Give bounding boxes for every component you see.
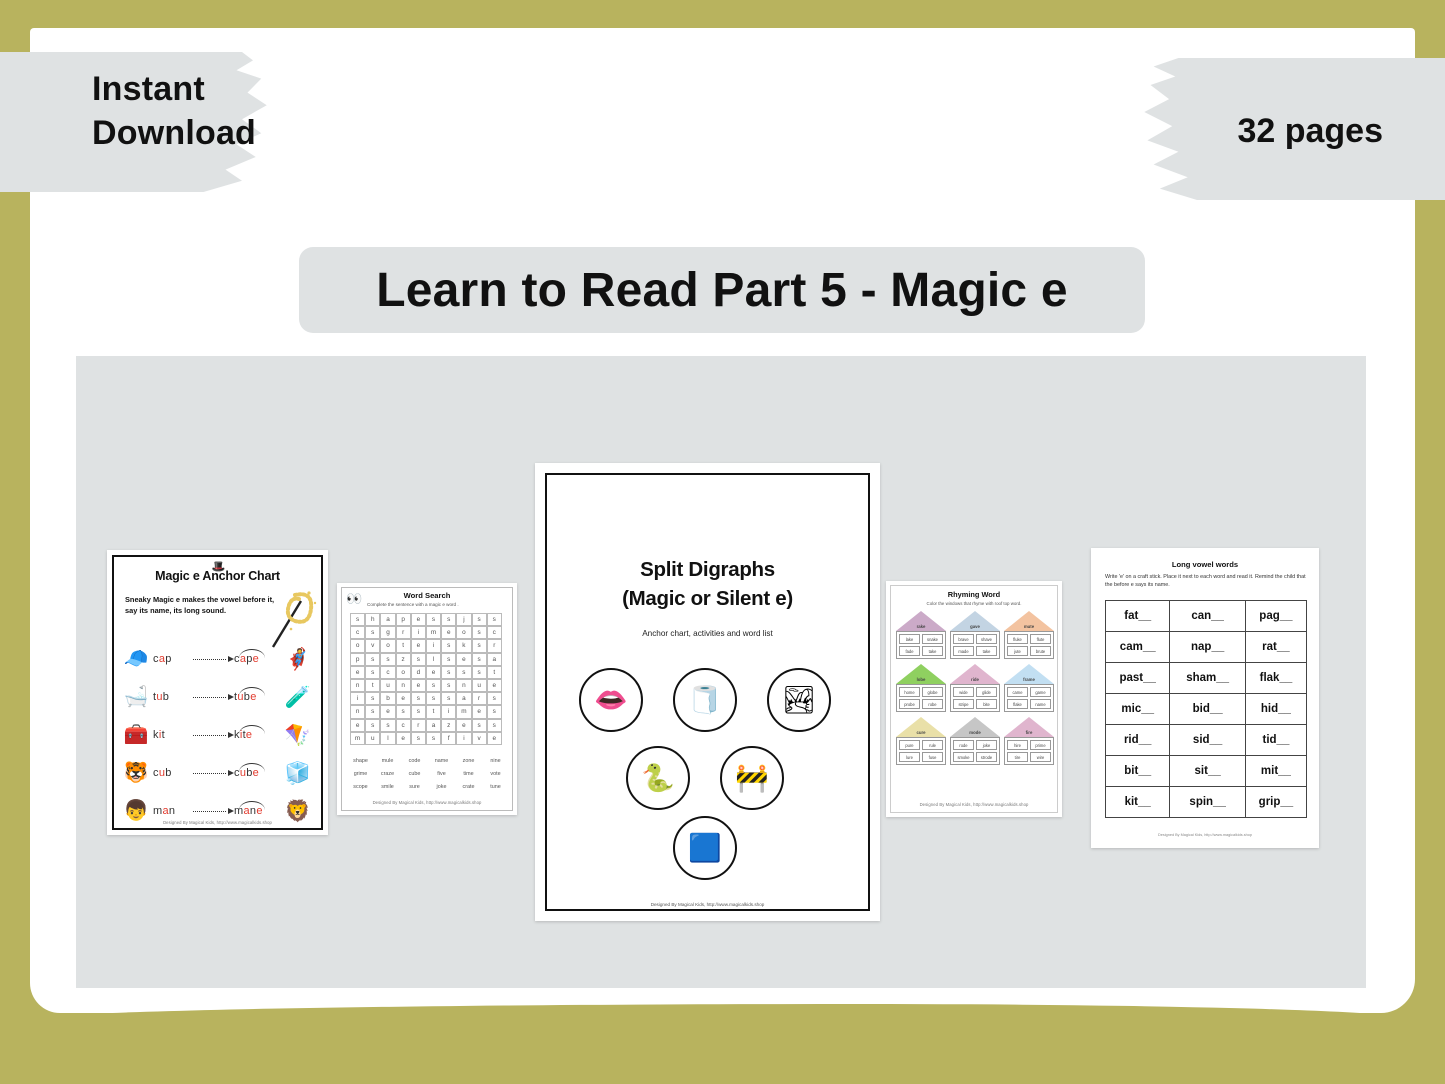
anchor-row-short-word: man <box>153 805 191 817</box>
house-roof: rake <box>896 611 946 631</box>
rhyming-house: lobehomeglobeproberobe <box>896 664 946 712</box>
word-search-cell[interactable]: s <box>487 705 502 718</box>
cover-subtitle: Anchor chart, activities and word list <box>535 629 880 638</box>
house-window[interactable]: pure <box>899 740 920 750</box>
word-search-cell[interactable]: s <box>487 692 502 705</box>
long-vowel-cell: cam__ <box>1106 632 1170 663</box>
word-search-cell[interactable]: f <box>441 732 456 745</box>
house-window[interactable]: tire <box>1007 752 1028 762</box>
table-row: cam__nap__rat__ <box>1106 632 1307 663</box>
instant-download-line-1: Instant <box>92 68 256 112</box>
product-title-banner: Learn to Read Part 5 - Magic e <box>299 247 1145 333</box>
word-search-cell[interactable]: e <box>456 719 471 732</box>
anchor-row-short-word: kit <box>153 729 191 741</box>
house-roof: cure <box>896 717 946 737</box>
anchor-chart-title: Magic e Anchor Chart <box>107 569 328 583</box>
table-row: mic__bid__hid__ <box>1106 694 1307 725</box>
house-window[interactable]: prime <box>1030 740 1051 750</box>
word-search-cell[interactable]: o <box>380 639 395 652</box>
house-window[interactable]: rule <box>922 740 943 750</box>
house-window[interactable]: fade <box>899 646 920 656</box>
word-search-cell[interactable]: s <box>365 705 380 718</box>
word-search-cell[interactable]: s <box>426 613 441 626</box>
table-row: kit__spin__grip__ <box>1106 787 1307 818</box>
word-search-cell[interactable]: s <box>441 653 456 666</box>
page-credit: Designed By Magical Kids, http://www.mag… <box>107 820 328 825</box>
anchor-row-long-icon: 🪁 <box>278 725 318 746</box>
word-search-word: nine <box>482 758 509 764</box>
word-search-cell[interactable]: s <box>441 613 456 626</box>
house-body: flukeflutejutebrute <box>1004 631 1054 659</box>
long-vowel-table: fat__can__pag__cam__nap__rat__past__sham… <box>1105 600 1307 818</box>
table-row: past__sham__flak__ <box>1106 663 1307 694</box>
house-body: camegameflakename <box>1004 684 1054 712</box>
house-roof: mute <box>1004 611 1054 631</box>
anchor-row-long-icon: 🦁 <box>278 801 318 822</box>
word-search-cell[interactable]: m <box>426 626 441 639</box>
cover-image-cone: 🚧 <box>720 746 784 810</box>
house-roof-word: frame <box>1004 677 1054 682</box>
word-search-cell[interactable]: s <box>426 732 441 745</box>
long-vowel-cell: sit__ <box>1170 756 1245 787</box>
anchor-row-short-word: tub <box>153 691 191 703</box>
word-search-cell[interactable]: s <box>411 732 426 745</box>
house-window[interactable]: home <box>899 687 920 697</box>
anchor-chart-word-rows: 🧢capcape🦸🛁tubtube🧪🧰kitkite🪁🐯cubcube🧊👦man… <box>119 640 318 830</box>
word-search-cell[interactable]: c <box>350 626 365 639</box>
house-window[interactable]: glide <box>976 687 997 697</box>
cover-image-bite: 👄 <box>579 668 643 732</box>
long-vowel-cell: hid__ <box>1245 694 1306 725</box>
preview-page-word-search[interactable]: 👀 Word Search Complete the sentence with… <box>337 583 517 815</box>
word-search-word: code <box>401 758 428 764</box>
page-credit: Designed By Magical Kids, http://www.mag… <box>535 902 880 907</box>
preview-page-cover[interactable]: Split Digraphs (Magic or Silent e) Ancho… <box>535 463 880 921</box>
word-search-cell[interactable]: l <box>426 653 441 666</box>
long-vowel-cell: mic__ <box>1106 694 1170 725</box>
page-credit: Designed By Magical Kids, http://www.mag… <box>1091 833 1319 837</box>
word-search-grid: shapessjsscsgrimeoscovoteisksrpsszslsesa… <box>350 613 502 745</box>
word-search-cell[interactable]: j <box>456 613 471 626</box>
word-search-cell[interactable]: h <box>365 613 380 626</box>
word-search-cell[interactable]: s <box>426 679 441 692</box>
word-search-cell[interactable]: e <box>411 613 426 626</box>
word-search-cell[interactable]: i <box>441 705 456 718</box>
word-search-word: cube <box>401 771 428 777</box>
page-credit: Designed By Magical Kids, http://www.mag… <box>337 800 517 805</box>
arrow-icon <box>191 730 234 740</box>
house-window[interactable]: snake <box>922 634 943 644</box>
rhyming-house: rakelakesnakefadetake <box>896 611 946 659</box>
word-search-cell[interactable]: e <box>411 639 426 652</box>
word-search-cell[interactable]: u <box>380 679 395 692</box>
house-roof-word: gave <box>950 624 1000 629</box>
cover-title-line-2: (Magic or Silent e) <box>535 584 880 613</box>
house-window[interactable]: brute <box>1030 646 1051 656</box>
house-window[interactable]: wire <box>1030 752 1051 762</box>
preview-page-rhyming-words[interactable]: Rhyming Word Color the windows that rhym… <box>886 581 1062 817</box>
anchor-row-short-icon: 🧰 <box>119 725 153 745</box>
word-search-cell[interactable]: s <box>472 653 487 666</box>
house-roof: mode <box>950 717 1000 737</box>
long-vowel-title: Long vowel words <box>1091 560 1319 569</box>
house-window[interactable]: take <box>976 646 997 656</box>
word-search-word: sure <box>401 784 428 790</box>
word-search-cell[interactable]: s <box>411 692 426 705</box>
word-search-word: mule <box>374 758 401 764</box>
word-search-cell[interactable]: s <box>380 719 395 732</box>
word-search-cell[interactable]: s <box>472 666 487 679</box>
house-roof: lobe <box>896 664 946 684</box>
house-roof-word: mode <box>950 730 1000 735</box>
anchor-row-long-icon: 🦸 <box>278 649 318 670</box>
word-search-cell[interactable]: s <box>380 653 395 666</box>
long-vowel-cell: pag__ <box>1245 601 1306 632</box>
word-search-cell[interactable]: z <box>441 719 456 732</box>
word-search-cell[interactable]: s <box>441 692 456 705</box>
arrow-icon <box>191 768 234 778</box>
word-search-cell[interactable]: a <box>456 692 471 705</box>
house-body: purerulelurefuse <box>896 737 946 765</box>
word-search-cell[interactable]: r <box>411 719 426 732</box>
house-window[interactable]: hire <box>1007 740 1028 750</box>
word-search-cell[interactable]: s <box>396 705 411 718</box>
house-roof: ride <box>950 664 1000 684</box>
word-search-word: tune <box>482 784 509 790</box>
word-search-cell[interactable]: b <box>380 692 395 705</box>
long-vowel-cell: grip__ <box>1245 787 1306 818</box>
word-search-cell[interactable]: o <box>396 666 411 679</box>
long-vowel-subtitle: Write 'e' on a craft stick. Place it nex… <box>1105 573 1307 589</box>
word-search-cell[interactable]: r <box>396 626 411 639</box>
house-window[interactable]: strode <box>976 752 997 762</box>
word-search-word: crate <box>455 784 482 790</box>
long-vowel-cell: sid__ <box>1170 725 1245 756</box>
house-window[interactable]: rode <box>953 740 974 750</box>
word-search-cell[interactable]: i <box>426 639 441 652</box>
anchor-row-long-word: cube <box>234 767 278 779</box>
house-window[interactable]: smoke <box>953 752 974 762</box>
long-vowel-cell: mit__ <box>1245 756 1306 787</box>
word-search-cell[interactable]: n <box>396 679 411 692</box>
rhyming-house: ridewideglidestripebite <box>950 664 1000 712</box>
house-window[interactable]: wide <box>953 687 974 697</box>
word-search-cell[interactable]: c <box>396 719 411 732</box>
word-search-cell[interactable]: a <box>380 613 395 626</box>
long-vowel-cell: rid__ <box>1106 725 1170 756</box>
word-search-cell[interactable]: e <box>441 626 456 639</box>
word-search-cell[interactable]: e <box>426 666 441 679</box>
word-search-cell[interactable]: s <box>472 613 487 626</box>
word-search-cell[interactable]: s <box>472 639 487 652</box>
word-search-cell[interactable]: r <box>487 639 502 652</box>
word-search-cell[interactable]: p <box>396 613 411 626</box>
long-vowel-cell: bid__ <box>1170 694 1245 725</box>
rhyming-house: muteflukeflutejutebrute <box>1004 611 1054 659</box>
word-search-cell[interactable]: e <box>396 692 411 705</box>
word-search-cell[interactable]: s <box>411 653 426 666</box>
word-search-cell[interactable]: r <box>472 692 487 705</box>
word-search-cell[interactable]: e <box>487 679 502 692</box>
word-search-cell[interactable]: s <box>441 639 456 652</box>
page-credit: Designed By Magical Kids, http://www.mag… <box>886 802 1062 807</box>
word-search-subtitle: Complete the sentence with a magic e wor… <box>367 602 509 607</box>
cover-image-tape: 🧻 <box>673 668 737 732</box>
word-search-cell[interactable]: s <box>350 613 365 626</box>
house-body: rodejokesmokestrode <box>950 737 1000 765</box>
arrow-icon <box>191 692 234 702</box>
house-window[interactable]: take <box>922 646 943 656</box>
long-vowel-cell: tid__ <box>1245 725 1306 756</box>
preview-page-anchor-chart[interactable]: 🎩 Magic e Anchor Chart Sneaky Magic e ma… <box>107 550 328 835</box>
long-vowel-cell: bit__ <box>1106 756 1170 787</box>
house-window[interactable]: probe <box>899 699 920 709</box>
word-search-cell[interactable]: c <box>380 666 395 679</box>
word-search-cell[interactable]: t <box>396 639 411 652</box>
word-search-title: Word Search <box>337 591 517 600</box>
anchor-row-short-word: cub <box>153 767 191 779</box>
anchor-row-short-word: cap <box>153 653 191 665</box>
house-window[interactable]: game <box>1030 687 1051 697</box>
word-search-cell[interactable]: m <box>350 732 365 745</box>
rhyming-house: firehireprimetirewire <box>1004 717 1054 765</box>
house-window[interactable]: bite <box>976 699 997 709</box>
house-roof-word: rake <box>896 624 946 629</box>
word-search-cell[interactable]: k <box>456 639 471 652</box>
anchor-chart-row: 🐯cubcube🧊 <box>119 754 318 792</box>
rhyming-house-grid: rakelakesnakefadetakegavebraveshavemadet… <box>896 611 1054 765</box>
word-search-word: shape <box>347 758 374 764</box>
table-row: rid__sid__tid__ <box>1106 725 1307 756</box>
house-window[interactable]: name <box>1030 699 1051 709</box>
word-search-cell[interactable]: c <box>487 626 502 639</box>
long-vowel-cell: past__ <box>1106 663 1170 694</box>
rhyming-subtitle: Color the windows that rhyme with roof t… <box>886 601 1062 606</box>
word-search-word: joke <box>428 784 455 790</box>
word-search-cell[interactable]: i <box>411 626 426 639</box>
word-search-cell[interactable]: i <box>350 692 365 705</box>
word-search-cell[interactable]: v <box>472 732 487 745</box>
house-body: hireprimetirewire <box>1004 737 1054 765</box>
word-search-cell[interactable]: e <box>350 666 365 679</box>
word-search-cell[interactable]: o <box>456 626 471 639</box>
word-search-cell[interactable]: e <box>396 732 411 745</box>
house-body: homeglobeproberobe <box>896 684 946 712</box>
word-search-word: time <box>455 771 482 777</box>
house-window[interactable]: fuse <box>922 752 943 762</box>
word-search-cell[interactable]: s <box>426 692 441 705</box>
word-search-word: vote <box>482 771 509 777</box>
word-search-cell[interactable]: a <box>426 719 441 732</box>
word-search-cell[interactable]: e <box>456 653 471 666</box>
rhyming-house: framecamegameflakename <box>1004 664 1054 712</box>
cover-image-tile: 🟦 <box>673 816 737 880</box>
long-vowel-cell: flak__ <box>1245 663 1306 694</box>
word-search-cell[interactable]: n <box>456 679 471 692</box>
word-search-cell[interactable]: v <box>365 639 380 652</box>
word-search-word: name <box>428 758 455 764</box>
word-search-word: zone <box>455 758 482 764</box>
anchor-row-long-word: tube <box>234 691 278 703</box>
rhyming-title: Rhyming Word <box>886 590 1062 599</box>
word-search-word: grime <box>347 771 374 777</box>
house-roof-word: cure <box>896 730 946 735</box>
word-search-cell[interactable]: e <box>350 719 365 732</box>
word-search-cell[interactable]: t <box>487 666 502 679</box>
house-roof: frame <box>1004 664 1054 684</box>
house-body: lakesnakefadetake <box>896 631 946 659</box>
page-count-badge: 32 pages <box>1237 112 1383 151</box>
anchor-row-long-word: kite <box>234 729 278 741</box>
anchor-row-short-icon: 👦 <box>119 801 153 821</box>
instant-download-badge: Instant Download <box>92 68 256 155</box>
house-window[interactable]: flake <box>1007 699 1028 709</box>
house-roof-word: mute <box>1004 624 1054 629</box>
cover-title-line-1: Split Digraphs <box>535 555 880 584</box>
word-search-cell[interactable]: s <box>365 666 380 679</box>
word-search-cell[interactable]: e <box>487 732 502 745</box>
house-window[interactable]: made <box>953 646 974 656</box>
preview-page-long-vowel-words[interactable]: Long vowel words Write 'e' on a craft st… <box>1091 548 1319 848</box>
long-vowel-cell: can__ <box>1170 601 1245 632</box>
word-search-cell[interactable]: s <box>365 719 380 732</box>
cover-image-lake: 🏞 <box>767 668 831 732</box>
house-body: wideglidestripebite <box>950 684 1000 712</box>
long-vowel-cell: fat__ <box>1106 601 1170 632</box>
anchor-row-short-icon: 🛁 <box>119 687 153 707</box>
anchor-chart-subtitle: Sneaky Magic e makes the vowel before it… <box>125 594 280 617</box>
long-vowel-cell: sham__ <box>1170 663 1245 694</box>
rhyming-house: gavebraveshavemadetake <box>950 611 1000 659</box>
word-search-cell[interactable]: g <box>380 626 395 639</box>
word-search-cell[interactable]: o <box>350 639 365 652</box>
house-roof-word: ride <box>950 677 1000 682</box>
house-roof-word: lobe <box>896 677 946 682</box>
word-search-cell[interactable]: s <box>472 626 487 639</box>
word-search-cell[interactable]: s <box>365 653 380 666</box>
word-search-cell[interactable]: p <box>350 653 365 666</box>
rhyming-house: curepurerulelurefuse <box>896 717 946 765</box>
instant-download-line-2: Download <box>92 112 256 156</box>
anchor-row-long-word: mane <box>234 805 278 817</box>
word-search-word: smile <box>374 784 401 790</box>
word-search-word: scope <box>347 784 374 790</box>
arrow-icon <box>191 654 234 664</box>
word-search-cell[interactable]: s <box>472 719 487 732</box>
cover-title: Split Digraphs (Magic or Silent e) <box>535 555 880 613</box>
anchor-chart-row: 🧢capcape🦸 <box>119 640 318 678</box>
word-search-cell[interactable]: n <box>350 705 365 718</box>
house-window[interactable]: flute <box>1030 634 1051 644</box>
word-search-cell[interactable]: n <box>350 679 365 692</box>
long-vowel-cell: spin__ <box>1170 787 1245 818</box>
word-search-cell[interactable]: s <box>456 666 471 679</box>
arrow-icon <box>191 806 234 816</box>
word-search-word-list: shapemulecodenamezoneninegrimecrazecubef… <box>347 758 509 790</box>
cover-image-snake: 🐍 <box>626 746 690 810</box>
anchor-row-long-icon: 🧊 <box>278 763 318 784</box>
house-window[interactable]: brave <box>953 634 974 644</box>
anchor-chart-row: 🧰kitkite🪁 <box>119 716 318 754</box>
long-vowel-cell: nap__ <box>1170 632 1245 663</box>
word-search-cell[interactable]: m <box>456 705 471 718</box>
word-search-cell[interactable]: s <box>487 613 502 626</box>
word-search-word: craze <box>374 771 401 777</box>
house-roof-word: fire <box>1004 730 1054 735</box>
word-search-cell[interactable]: s <box>441 679 456 692</box>
house-window[interactable]: lure <box>899 752 920 762</box>
word-search-cell[interactable]: s <box>411 705 426 718</box>
word-search-cell[interactable]: s <box>365 692 380 705</box>
word-search-cell[interactable]: a <box>487 653 502 666</box>
word-search-cell[interactable]: d <box>411 666 426 679</box>
word-search-cell[interactable]: t <box>426 705 441 718</box>
anchor-row-long-icon: 🧪 <box>278 687 318 708</box>
anchor-row-short-icon: 🧢 <box>119 649 153 669</box>
house-window[interactable]: stripe <box>953 699 974 709</box>
house-window[interactable]: fluke <box>1007 634 1028 644</box>
house-window[interactable]: jute <box>1007 646 1028 656</box>
word-search-cell[interactable]: e <box>472 705 487 718</box>
long-vowel-cell: rat__ <box>1245 632 1306 663</box>
word-search-cell[interactable]: e <box>411 679 426 692</box>
house-roof: gave <box>950 611 1000 631</box>
word-search-cell[interactable]: u <box>472 679 487 692</box>
house-window[interactable]: shave <box>976 634 997 644</box>
long-vowel-cell: kit__ <box>1106 787 1170 818</box>
house-window[interactable]: lake <box>899 634 920 644</box>
word-search-cell[interactable]: l <box>380 732 395 745</box>
word-search-word: five <box>428 771 455 777</box>
anchor-row-long-word: cape <box>234 653 278 665</box>
table-row: bit__sit__mit__ <box>1106 756 1307 787</box>
house-body: braveshavemadetake <box>950 631 1000 659</box>
anchor-row-short-icon: 🐯 <box>119 763 153 783</box>
word-search-cell[interactable]: s <box>487 719 502 732</box>
word-search-cell[interactable]: i <box>456 732 471 745</box>
word-search-cell[interactable]: u <box>365 732 380 745</box>
word-search-cell[interactable]: s <box>441 666 456 679</box>
word-search-cell[interactable]: z <box>396 653 411 666</box>
house-window[interactable]: joke <box>976 740 997 750</box>
word-search-cell[interactable]: e <box>380 705 395 718</box>
anchor-chart-row: 🛁tubtube🧪 <box>119 678 318 716</box>
table-row: fat__can__pag__ <box>1106 601 1307 632</box>
house-window[interactable]: robe <box>922 699 943 709</box>
word-search-cell[interactable]: t <box>365 679 380 692</box>
house-roof: fire <box>1004 717 1054 737</box>
house-window[interactable]: came <box>1007 687 1028 697</box>
page-title: Learn to Read Part 5 - Magic e <box>376 263 1068 318</box>
rhyming-house: moderodejokesmokestrode <box>950 717 1000 765</box>
house-window[interactable]: globe <box>922 687 943 697</box>
word-search-cell[interactable]: s <box>365 626 380 639</box>
